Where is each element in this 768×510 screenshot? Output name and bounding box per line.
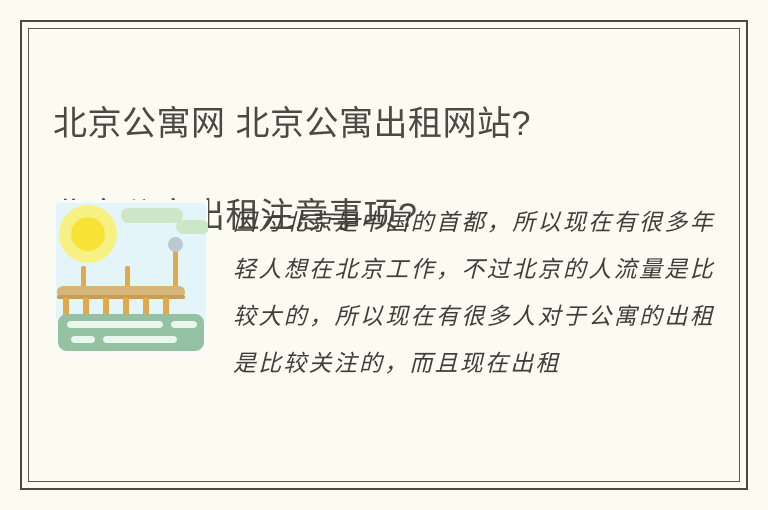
- page-root: 北京公寓网 北京公寓出租网站? 北京公寓出租注意事项?: [0, 0, 768, 510]
- cloud-icon: [176, 220, 208, 234]
- lamp-head-icon: [168, 237, 183, 252]
- water-icon: [58, 314, 204, 351]
- cloud-icon: [121, 208, 183, 223]
- article-preview-row: 因为北京是中国的首都，所以现在有很多年轻人想在北京工作，不过北京的人流量是比较大…: [53, 200, 715, 388]
- article-excerpt: 因为北京是中国的首都，所以现在有很多年轻人想在北京工作，不过北京的人流量是比较大…: [233, 200, 715, 388]
- sun-icon: [71, 217, 105, 251]
- page-title-line-1: 北京公寓网 北京公寓出租网站?: [53, 101, 715, 147]
- wave-icon: [171, 321, 197, 328]
- railing-post-icon: [125, 266, 130, 288]
- article-thumbnail: [53, 200, 208, 355]
- wave-icon: [71, 336, 95, 343]
- article-content: 北京公寓网 北京公寓出租网站? 北京公寓出租注意事项?: [53, 55, 715, 455]
- wave-icon: [103, 336, 177, 343]
- railing-post-icon: [81, 266, 86, 288]
- wave-icon: [67, 321, 163, 328]
